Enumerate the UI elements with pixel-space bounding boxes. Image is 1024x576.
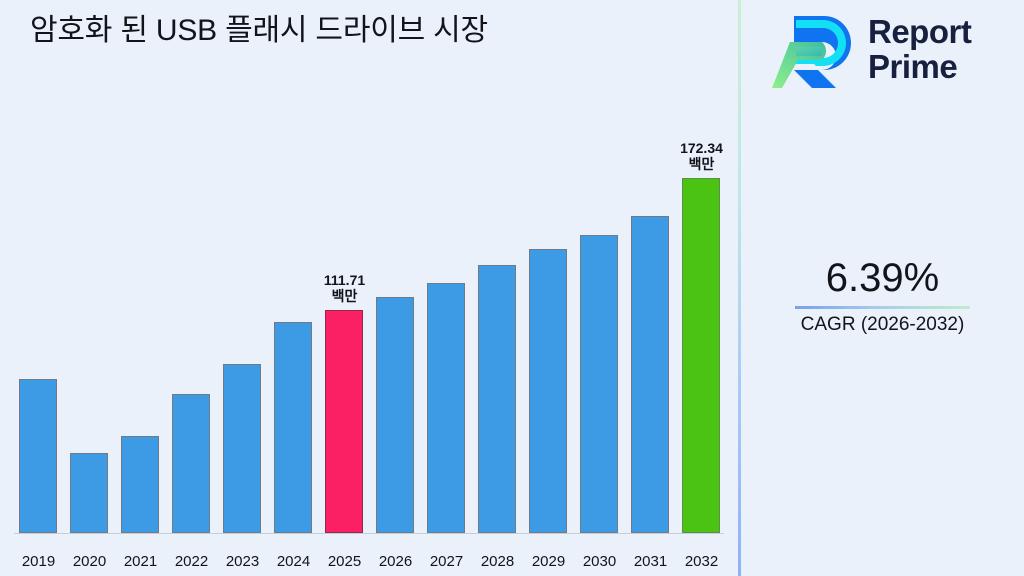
bar-group-2030: 2030 xyxy=(574,0,625,533)
bar-group-2021: 2021 xyxy=(115,0,166,533)
x-tick-2024: 2024 xyxy=(268,553,319,570)
x-tick-2027: 2027 xyxy=(421,553,472,570)
x-tick-2025: 2025 xyxy=(319,553,370,570)
bar-2021[interactable] xyxy=(121,436,159,533)
x-tick-2031: 2031 xyxy=(625,553,676,570)
bar-group-2026: 2026 xyxy=(370,0,421,533)
bar-2022[interactable] xyxy=(172,394,210,533)
bar-group-2023: 2023 xyxy=(217,0,268,533)
bar-2030[interactable] xyxy=(580,235,618,533)
bar-group-2025: 111.71 백만2025 xyxy=(319,0,370,533)
bar-2032[interactable] xyxy=(682,178,720,533)
x-tick-2023: 2023 xyxy=(217,553,268,570)
brand-logo: Report Prime xyxy=(772,10,971,88)
brand-wordmark: Report Prime xyxy=(868,14,971,84)
bar-2024[interactable] xyxy=(274,322,312,533)
cagr-value: 6.39% xyxy=(741,255,1024,301)
bar-2023[interactable] xyxy=(223,364,261,533)
bar-group-2031: 2031 xyxy=(625,0,676,533)
bar-2029[interactable] xyxy=(529,249,567,533)
bar-2019[interactable] xyxy=(19,379,57,533)
cagr-divider xyxy=(795,306,970,309)
bar-group-2027: 2027 xyxy=(421,0,472,533)
x-tick-2022: 2022 xyxy=(166,553,217,570)
bar-value-label-2032: 172.34 백만 xyxy=(662,140,741,172)
bar-2028[interactable] xyxy=(478,265,516,533)
x-tick-2028: 2028 xyxy=(472,553,523,570)
cagr-caption: CAGR (2026-2032) xyxy=(741,313,1024,337)
bar-group-2022: 2022 xyxy=(166,0,217,533)
bar-2031[interactable] xyxy=(631,216,669,533)
bar-2025[interactable] xyxy=(325,310,363,533)
bar-group-2028: 2028 xyxy=(472,0,523,533)
x-tick-2029: 2029 xyxy=(523,553,574,570)
bar-group-2019: 2019 xyxy=(13,0,64,533)
bar-2026[interactable] xyxy=(376,297,414,533)
x-tick-2030: 2030 xyxy=(574,553,625,570)
right-panel: Report Prime 6.39% CAGR (2026-2032) xyxy=(741,0,1024,576)
bar-group-2029: 2029 xyxy=(523,0,574,533)
x-tick-2021: 2021 xyxy=(115,553,166,570)
cagr-block: 6.39% CAGR (2026-2032) xyxy=(741,255,1024,337)
bar-group-2032: 172.34 백만2032 xyxy=(676,0,727,533)
report-prime-r-logo-icon xyxy=(772,10,856,88)
x-tick-2019: 2019 xyxy=(13,553,64,570)
bar-group-2020: 2020 xyxy=(64,0,115,533)
bar-chart-plot-area: 201920202021202220232024111.71 백만2025202… xyxy=(0,0,738,576)
bar-2020[interactable] xyxy=(70,453,108,533)
x-axis-line xyxy=(14,533,724,534)
chart-panel: 암호화 된 USB 플래시 드라이브 시장 201920202021202220… xyxy=(0,0,738,576)
x-tick-2032: 2032 xyxy=(676,553,727,570)
bar-2027[interactable] xyxy=(427,283,465,533)
bar-group-2024: 2024 xyxy=(268,0,319,533)
x-tick-2020: 2020 xyxy=(64,553,115,570)
x-tick-2026: 2026 xyxy=(370,553,421,570)
